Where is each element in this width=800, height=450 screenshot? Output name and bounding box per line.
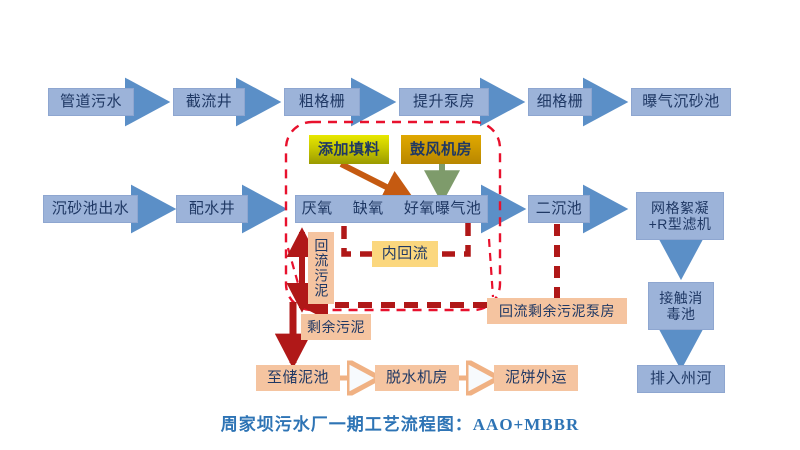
node-label: 回流剩余污泥泵房 — [499, 303, 615, 319]
label-excess-sludge[interactable]: 剩余污泥 — [301, 314, 371, 340]
node-fine-grille[interactable]: 细格栅 — [528, 88, 592, 116]
node-label: 剩余污泥 — [307, 319, 365, 335]
node-to-sludge-storage-tank[interactable]: 至储泥池 — [256, 365, 340, 391]
flowchart-canvas: 管道污水 截流井 粗格栅 提升泵房 细格栅 曝气沉砂池 添加填料 鼓风机房 沉砂… — [0, 0, 800, 450]
node-label: 网格絮凝 +R型滤机 — [649, 200, 712, 232]
node-aao-tank[interactable]: 厌氧 缺氧 好氧曝气池 — [295, 195, 488, 223]
node-label: 二沉池 — [536, 200, 583, 217]
node-label: 排入州河 — [650, 370, 712, 387]
node-label: 泥饼外运 — [505, 369, 567, 386]
node-water-distribution-well[interactable]: 配水井 — [176, 195, 248, 223]
node-label: 接触消 毒池 — [659, 290, 703, 322]
node-dewatering-room[interactable]: 脱水机房 — [375, 365, 459, 391]
node-blower-room[interactable]: 鼓风机房 — [401, 135, 481, 164]
node-interception-well[interactable]: 截流井 — [173, 88, 245, 116]
node-label: 细格栅 — [537, 93, 584, 110]
node-mud-cake-transport[interactable]: 泥饼外运 — [494, 365, 578, 391]
label-return-sludge[interactable]: 回流污泥 — [308, 232, 334, 304]
node-label: 添加填料 — [318, 141, 380, 158]
boundary-tap-left-path — [288, 248, 303, 301]
node-label: 截流井 — [186, 93, 233, 110]
node-label: 曝气沉砂池 — [642, 93, 720, 110]
node-grid-floc-filter[interactable]: 网格絮凝 +R型滤机 — [636, 192, 724, 240]
boundary-tap-path — [489, 239, 493, 297]
node-return-excess-sludge-pump-house[interactable]: 回流剩余污泥泵房 — [487, 298, 627, 324]
node-add-filler[interactable]: 添加填料 — [309, 135, 389, 164]
node-label: 配水井 — [189, 200, 236, 217]
node-label: 提升泵房 — [413, 93, 475, 110]
node-coarse-grille[interactable]: 粗格栅 — [284, 88, 360, 116]
node-label: 脱水机房 — [386, 369, 448, 386]
node-contact-disinfection-tank[interactable]: 接触消 毒池 — [648, 282, 714, 330]
node-label: 沉砂池出水 — [52, 200, 130, 217]
node-secondary-clarifier[interactable]: 二沉池 — [528, 195, 590, 223]
diagram-title: 周家坝污水厂一期工艺流程图：AAO+MBBR — [0, 410, 800, 435]
node-label: 厌氧 缺氧 好氧曝气池 — [302, 200, 482, 217]
node-pipe-sewage[interactable]: 管道污水 — [48, 88, 134, 116]
node-label: 至储泥池 — [267, 369, 329, 386]
node-label: 鼓风机房 — [410, 141, 472, 158]
node-discharge-to-river[interactable]: 排入州河 — [637, 365, 725, 393]
node-lift-pump-house[interactable]: 提升泵房 — [399, 88, 489, 116]
node-label: 粗格栅 — [299, 93, 346, 110]
node-grit-tank-effluent[interactable]: 沉砂池出水 — [43, 195, 138, 223]
node-label: 内回流 — [382, 245, 429, 262]
label-internal-recycle[interactable]: 内回流 — [372, 241, 438, 267]
node-label: 管道污水 — [60, 93, 122, 110]
node-aerated-grit-tank[interactable]: 曝气沉砂池 — [631, 88, 731, 116]
node-label: 回流污泥 — [314, 238, 329, 298]
